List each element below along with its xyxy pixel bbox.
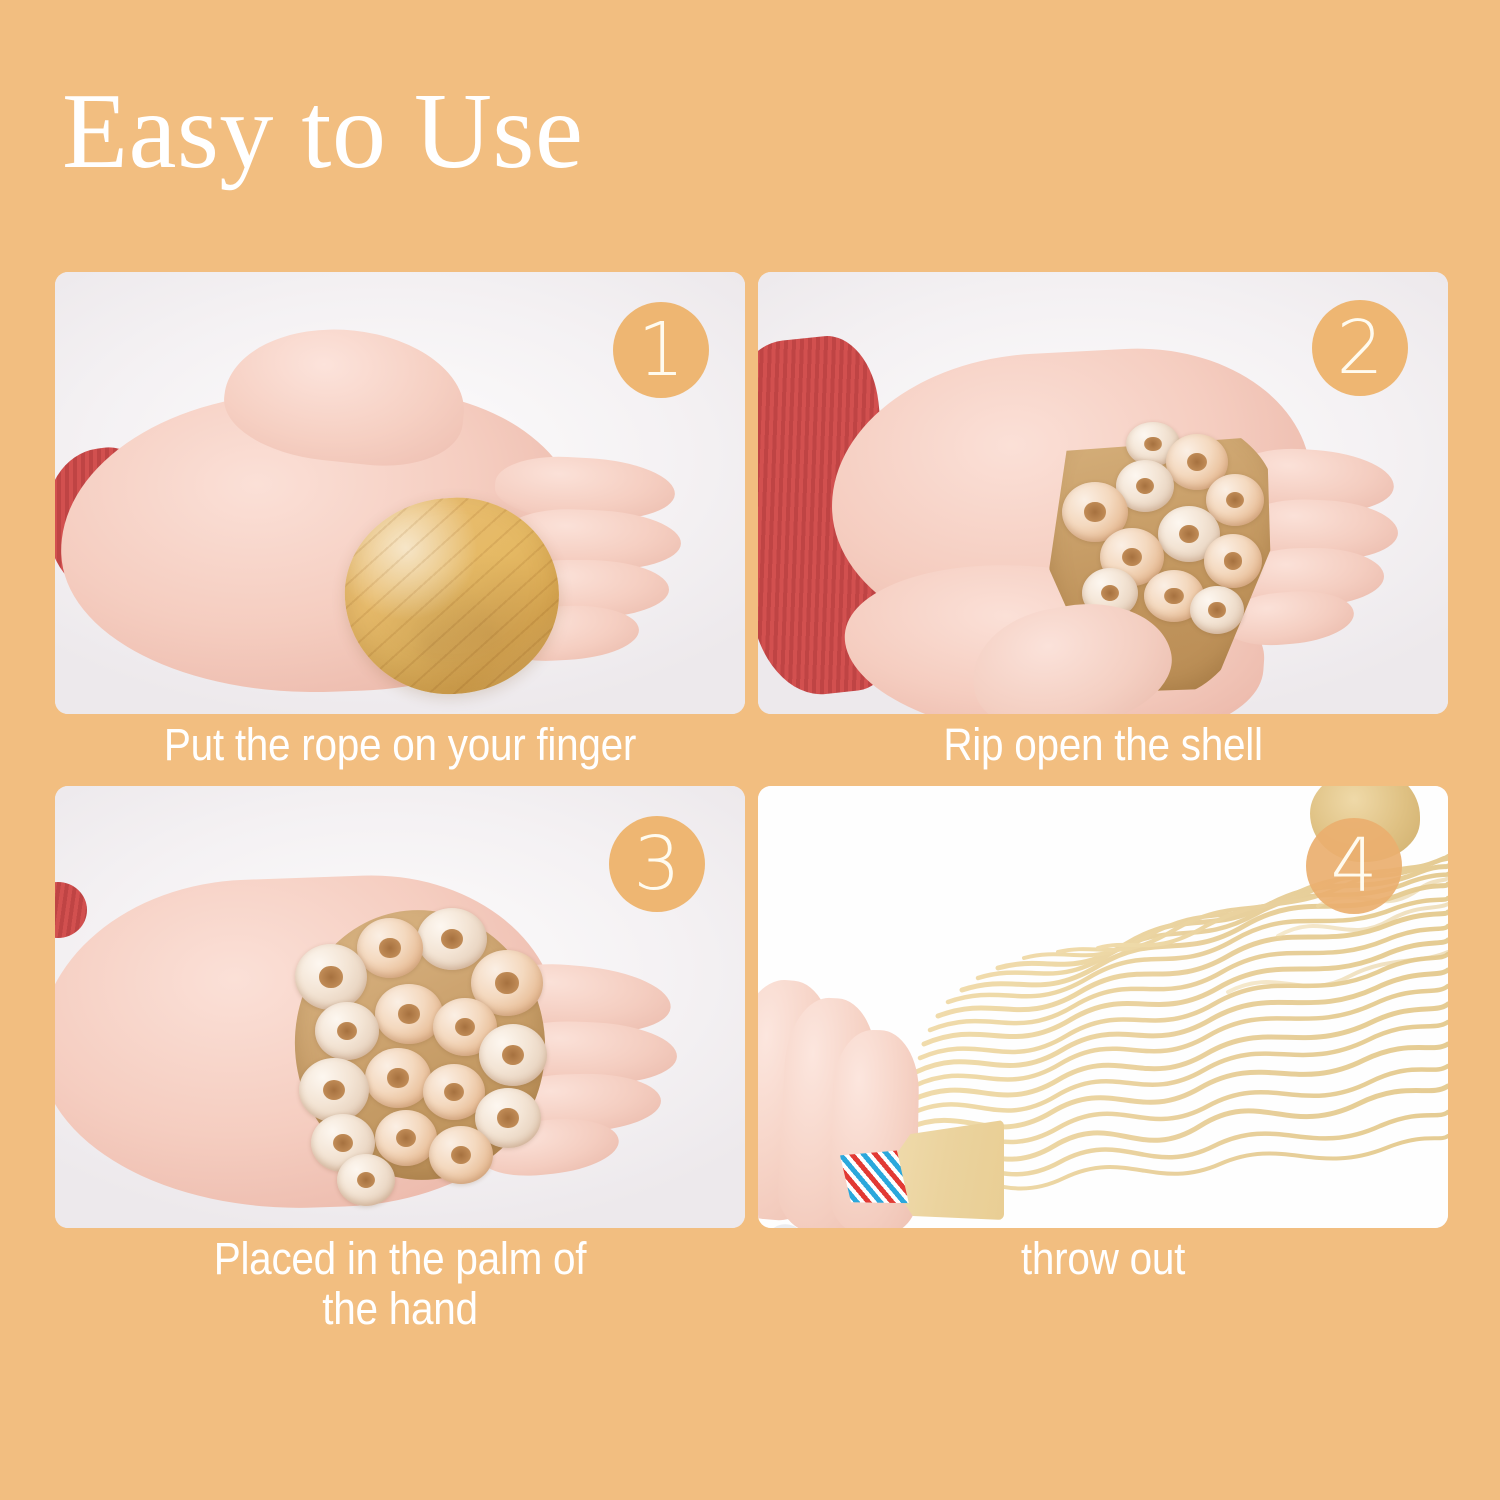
step-number-badge-1: 1 bbox=[613, 302, 709, 398]
step-number-badge-3: 3 bbox=[609, 816, 705, 912]
caption-line: Placed in the palm of bbox=[90, 1234, 711, 1284]
streamer-coil bbox=[299, 1058, 369, 1122]
streamer-coil bbox=[365, 1048, 431, 1108]
step-card-4: 4 throw out bbox=[758, 786, 1448, 1286]
step-caption-1: Put the rope on your finger bbox=[90, 720, 711, 770]
streamer-coil bbox=[295, 944, 367, 1010]
streamer-coil bbox=[1190, 586, 1244, 634]
step-number-badge-4: 4 bbox=[1306, 818, 1402, 914]
step-card-3: 3 Placed in the palm of the hand bbox=[55, 786, 745, 1286]
step-photo-1: 1 bbox=[55, 272, 745, 714]
caption-line: the hand bbox=[90, 1284, 711, 1334]
step-caption-2: Rip open the shell bbox=[793, 720, 1414, 770]
streamer-coil bbox=[479, 1024, 547, 1086]
step-card-1: 1 Put the rope on your finger bbox=[55, 272, 745, 772]
step-number-badge-2: 2 bbox=[1312, 300, 1408, 396]
streamer-coil bbox=[315, 1002, 379, 1060]
streamer-coil bbox=[429, 1126, 493, 1184]
streamer-coil bbox=[375, 984, 443, 1044]
streamer-coils bbox=[283, 898, 551, 1198]
step-photo-3: 3 bbox=[55, 786, 745, 1228]
step-photo-2: 2 bbox=[758, 272, 1448, 714]
step-photo-4: 4 bbox=[758, 786, 1448, 1228]
step-card-2: 2 Rip open the shell bbox=[758, 272, 1448, 772]
steps-grid: 1 Put the rope on your finger bbox=[55, 272, 1448, 1472]
streamer-coil bbox=[417, 908, 487, 970]
step-caption-4: throw out bbox=[793, 1234, 1414, 1284]
streamer-coil bbox=[337, 1154, 395, 1206]
step-caption-3: Placed in the palm of the hand bbox=[90, 1234, 711, 1333]
page-title: Easy to Use bbox=[62, 78, 583, 186]
streamer-coil bbox=[1204, 534, 1262, 588]
streamer-coil bbox=[375, 1110, 437, 1166]
streamer-coil bbox=[357, 918, 423, 978]
